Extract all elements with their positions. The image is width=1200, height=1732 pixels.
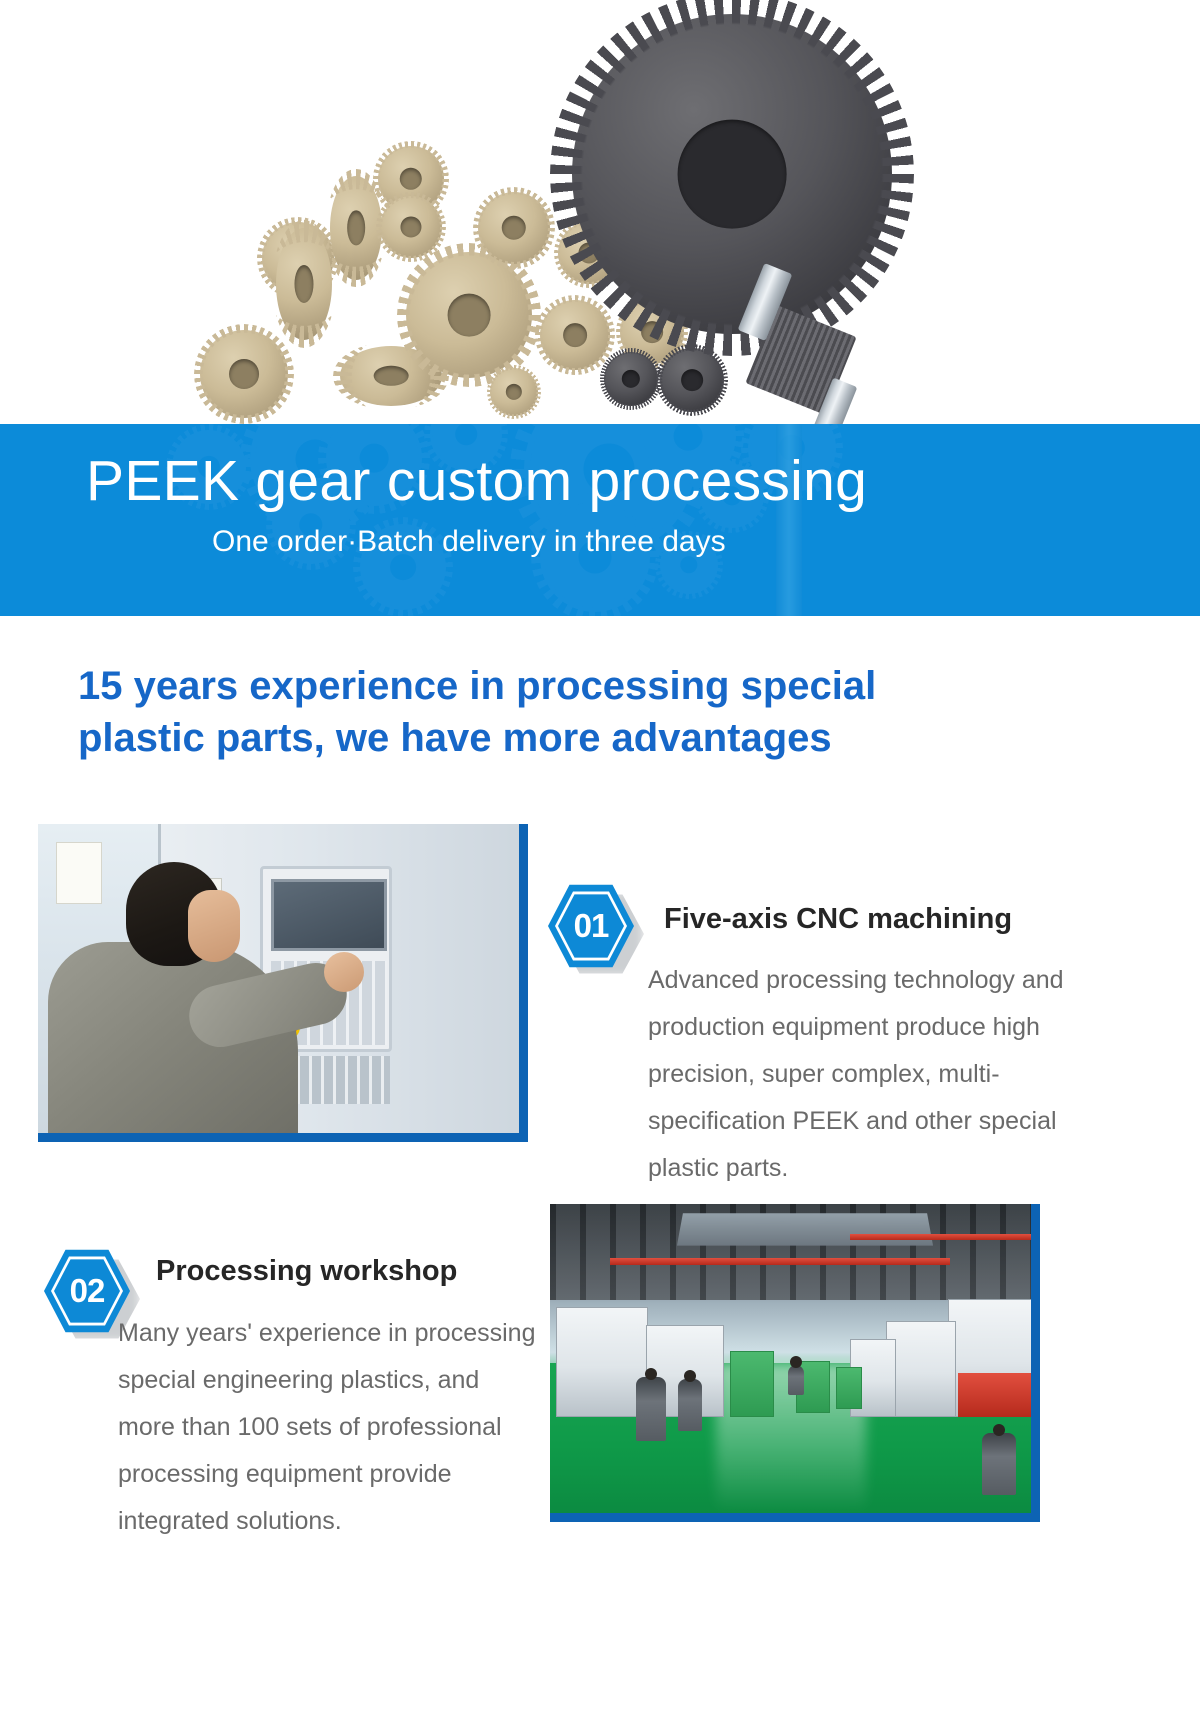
feature-badge-01: 01 <box>548 883 634 969</box>
gear-shape <box>490 368 538 416</box>
feature-image-01 <box>38 824 528 1142</box>
section-heading: 15 years experience in processing specia… <box>78 660 1098 764</box>
feature-number-01: 01 <box>548 883 634 969</box>
gear-shape <box>540 300 610 370</box>
gear-shape-dark <box>660 348 724 412</box>
banner-subtitle: One order·Batch delivery in three days <box>86 522 1200 562</box>
banner-title: PEEK gear custom processing <box>86 446 1200 516</box>
feature-body-01: Advanced processing technology and produ… <box>648 957 1088 1192</box>
workshop-photo <box>550 1204 1031 1513</box>
gear-shape <box>478 192 550 264</box>
feature-image-02 <box>550 1204 1040 1522</box>
feature-badge-02: 02 <box>44 1248 130 1334</box>
gear-shape <box>380 196 442 258</box>
hero-product-image <box>0 0 1200 432</box>
feature-title-02: Processing workshop <box>156 1255 457 1288</box>
hero-banner: PEEK gear custom processing One order·Ba… <box>0 424 1200 616</box>
section-heading-line-2: plastic parts, we have more advantages <box>78 712 1098 764</box>
gear-shape-dark-large <box>572 14 892 334</box>
feature-title-01: Five-axis CNC machining <box>664 903 1012 936</box>
feature-number-02: 02 <box>44 1248 130 1334</box>
section-heading-line-1: 15 years experience in processing specia… <box>78 660 1098 712</box>
gear-shape-dark <box>604 352 658 406</box>
gear-shape-large <box>406 252 532 378</box>
feature-body-02: Many years' experience in processing spe… <box>118 1310 538 1545</box>
gear-shape <box>200 330 288 418</box>
cnc-operator-photo <box>38 824 519 1133</box>
product-detail-page: PEEK gear custom processing One order·Ba… <box>0 0 1200 1732</box>
gear-shape <box>276 228 332 340</box>
